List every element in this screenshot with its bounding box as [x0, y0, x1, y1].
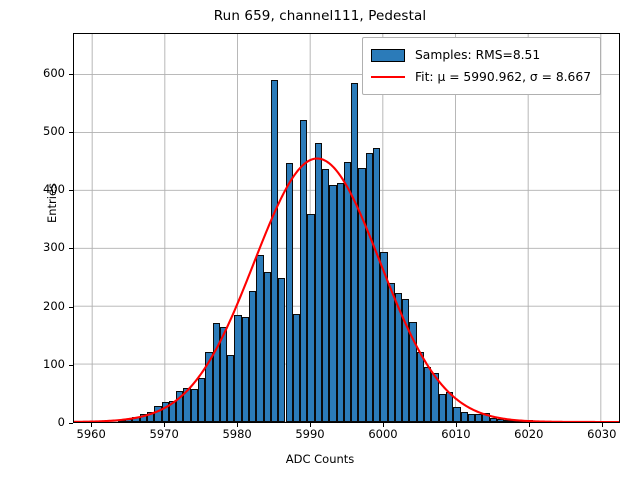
legend-box: Samples: RMS=8.51 Fit: μ = 5990.962, σ =…	[362, 37, 601, 95]
legend-label-samples: Samples: RMS=8.51	[415, 48, 540, 62]
y-tickmark	[69, 132, 73, 133]
legend-patch-icon	[371, 49, 405, 62]
y-tickmark	[69, 307, 73, 308]
y-axis-label: Entries	[45, 143, 59, 263]
x-axis-label: ADC Counts	[0, 452, 640, 466]
y-tick-label: 500	[13, 124, 65, 138]
x-tick-label: 6000	[353, 427, 413, 441]
legend-entry-fit: Fit: μ = 5990.962, σ = 8.667	[371, 66, 591, 88]
y-tick-label: 0	[13, 415, 65, 429]
y-tickmark	[69, 423, 73, 424]
fit-path	[74, 159, 619, 422]
x-tick-label: 5970	[134, 427, 194, 441]
chart-title: Run 659, channel111, Pedestal	[0, 8, 640, 24]
y-tick-label: 100	[13, 357, 65, 371]
legend-entry-samples: Samples: RMS=8.51	[371, 44, 591, 66]
y-tickmark	[69, 74, 73, 75]
x-tick-label: 5990	[280, 427, 340, 441]
legend-line-icon	[371, 76, 405, 78]
x-tick-label: 6020	[499, 427, 559, 441]
x-tick-label: 5960	[61, 427, 121, 441]
x-tick-label: 5980	[207, 427, 267, 441]
figure-canvas: Run 659, channel111, Pedestal 5960597059…	[0, 0, 640, 480]
y-tick-label: 600	[13, 66, 65, 80]
y-tick-label: 200	[13, 299, 65, 313]
y-tickmark	[69, 248, 73, 249]
x-tick-label: 6010	[426, 427, 486, 441]
x-tick-label: 6030	[572, 427, 632, 441]
y-tickmark	[69, 365, 73, 366]
legend-label-fit: Fit: μ = 5990.962, σ = 8.667	[415, 70, 591, 84]
y-tickmark	[69, 190, 73, 191]
